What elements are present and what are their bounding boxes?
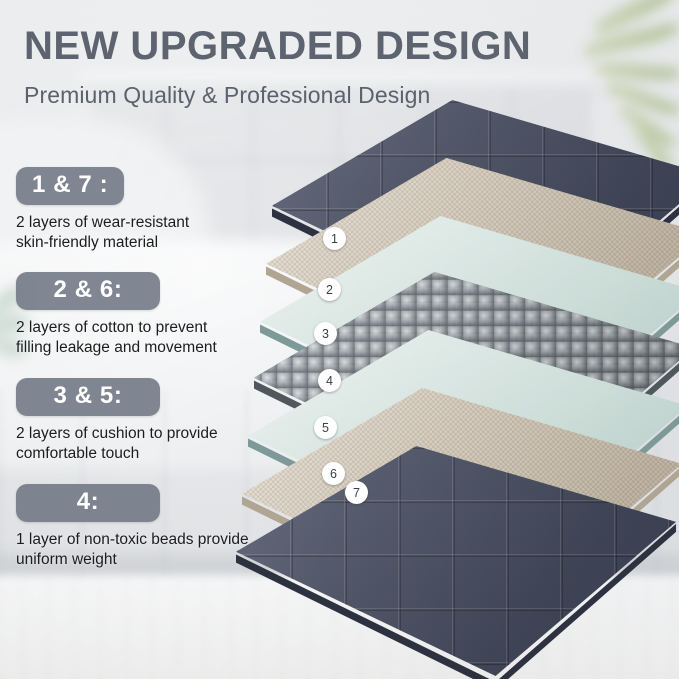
page-title: NEW UPGRADED DESIGN <box>24 24 531 69</box>
layer-marker-4: 4 <box>318 369 341 392</box>
layer-stack-diagram <box>252 96 679 656</box>
layer-marker-6: 6 <box>322 462 345 485</box>
feature-description-4: 1 layer of non-toxic beads provide unifo… <box>16 530 249 570</box>
layer-marker-5: 5 <box>314 416 337 439</box>
feature-badge-1-and-7: 1 & 7 : <box>16 167 124 205</box>
layer-marker-1: 1 <box>323 227 346 250</box>
feature-badge-2-and-6: 2 & 6: <box>16 272 160 310</box>
layer-marker-7: 7 <box>345 481 368 504</box>
feature-block-2-and-6: 2 & 6: 2 layers of cotton to prevent fil… <box>16 272 217 358</box>
feature-block-1-and-7: 1 & 7 : 2 layers of wear-resistant skin-… <box>16 167 189 253</box>
feature-block-4: 4: 1 layer of non-toxic beads provide un… <box>16 484 249 570</box>
feature-block-3-and-5: 3 & 5: 2 layers of cushion to provide co… <box>16 378 218 464</box>
product-infographic: NEW UPGRADED DESIGN Premium Quality & Pr… <box>0 0 679 679</box>
layer-marker-2: 2 <box>318 278 341 301</box>
layer-marker-3: 3 <box>314 322 337 345</box>
feature-description-3-and-5: 2 layers of cushion to provide comfortab… <box>16 424 218 464</box>
feature-badge-3-and-5: 3 & 5: <box>16 378 160 416</box>
feature-description-1-and-7: 2 layers of wear-resistant skin-friendly… <box>16 213 189 253</box>
feature-description-2-and-6: 2 layers of cotton to prevent filling le… <box>16 318 217 358</box>
feature-badge-4: 4: <box>16 484 160 522</box>
